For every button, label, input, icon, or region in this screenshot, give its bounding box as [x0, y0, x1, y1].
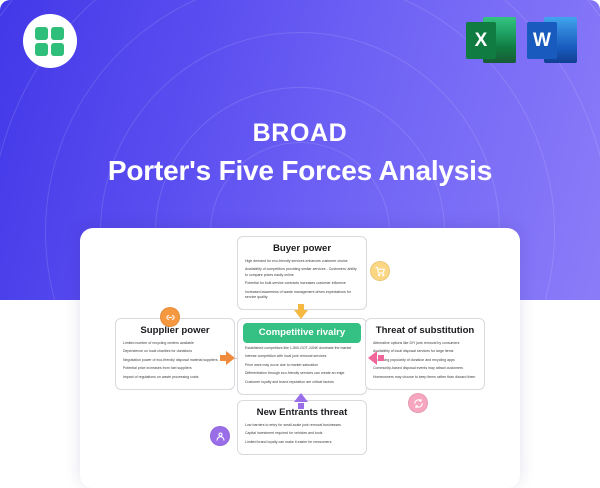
app-logo[interactable] [23, 14, 77, 68]
user-icon [215, 431, 226, 442]
list-item: Capital investment required for vehicles… [245, 431, 359, 436]
list-item: Customer loyalty and brand reputation ar… [245, 380, 359, 385]
list-item: High demand for eco-friendly services en… [245, 259, 359, 264]
list-item: Differentiation through eco-friendly ser… [245, 371, 359, 376]
list-item: Increased awareness of waste management … [245, 290, 359, 300]
list-item: Community-based disposal events may attr… [373, 366, 477, 371]
badge-threat-of-substitution[interactable] [408, 393, 428, 413]
word-icon-letter: W [527, 22, 557, 59]
arrow-entrants-to-rivalry [294, 393, 309, 409]
cart-icon [375, 266, 386, 277]
page-title: Porter's Five Forces Analysis [0, 152, 600, 190]
list-item: Homeowners may choose to keep items rath… [373, 375, 477, 380]
list-item: Availability of local disposal services … [373, 349, 477, 354]
card-items-entrants: Low barriers to entry for small-scale ju… [238, 423, 366, 454]
word-icon[interactable]: W [527, 14, 577, 66]
list-item: Intense competition with local junk remo… [245, 354, 359, 359]
diagram-sheet: Buyer power High demand for eco-friendly… [80, 228, 520, 488]
badge-buyer-power[interactable] [370, 261, 390, 281]
list-item: Price wars may occur due to market satur… [245, 363, 359, 368]
hero-text-block: BROAD Porter's Five Forces Analysis [0, 118, 600, 190]
card-items-buyer: High demand for eco-friendly services en… [238, 259, 366, 309]
list-item: Dependence on local charities for donati… [123, 349, 227, 354]
list-item: Availability of competitors providing si… [245, 267, 359, 277]
excel-icon-letter: X [466, 22, 496, 59]
list-item: Impact of regulations on waste processin… [123, 375, 227, 380]
badge-supplier-power[interactable] [160, 307, 180, 327]
card-title-substitution: Threat of substitution [366, 319, 484, 341]
card-title-buyer: Buyer power [238, 237, 366, 259]
diagram-canvas: Buyer power High demand for eco-friendly… [80, 228, 520, 488]
card-items-supplier: Limited number of recycling centers avai… [116, 341, 234, 389]
grid-blocks-logo-icon [35, 27, 65, 56]
card-buyer-power[interactable]: Buyer power High demand for eco-friendly… [237, 236, 367, 310]
office-export-icons: X W [466, 14, 577, 66]
list-item: Potential price increases from fuel supp… [123, 366, 227, 371]
list-item: Limited number of recycling centers avai… [123, 341, 227, 346]
list-item: Potential for bulk service contracts inc… [245, 281, 359, 286]
arrow-buyer-to-rivalry [294, 304, 309, 320]
list-item: Limited brand loyalty can make it easier… [245, 440, 359, 445]
link-chain-icon [165, 312, 176, 323]
excel-icon[interactable]: X [466, 14, 516, 66]
list-item: Alternative options like DIY junk remova… [373, 341, 477, 346]
list-item: Low barriers to entry for small-scale ju… [245, 423, 359, 428]
hero-kicker: BROAD [0, 118, 600, 148]
badge-new-entrants-threat[interactable] [210, 426, 230, 446]
recycle-icon [413, 398, 424, 409]
card-items-rivalry: Established competitors like 1-800-GOT-J… [238, 346, 366, 394]
list-item: Increasing popularity of donation and re… [373, 358, 477, 363]
list-item: Established competitors like 1-800-GOT-J… [245, 346, 359, 351]
arrow-supplier-to-rivalry [220, 351, 236, 366]
card-supplier-power[interactable]: Supplier power Limited number of recycli… [115, 318, 235, 390]
card-title-rivalry: Competitive rivalry [243, 323, 361, 343]
list-item: Negotiation power of eco-friendly dispos… [123, 358, 227, 363]
arrow-substitution-to-rivalry [368, 351, 384, 366]
card-competitive-rivalry[interactable]: Competitive rivalry Established competit… [237, 318, 367, 395]
